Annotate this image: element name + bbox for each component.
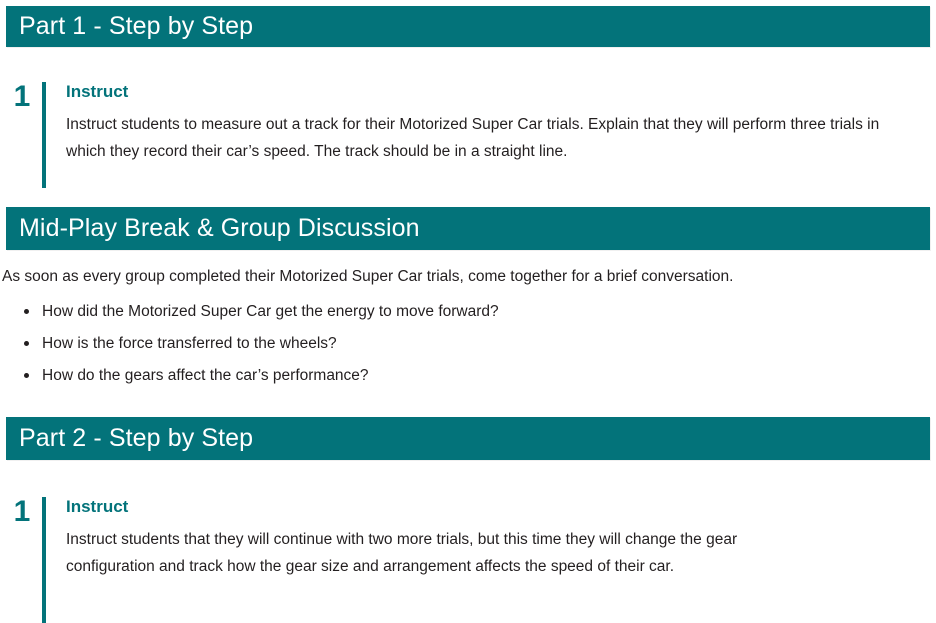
section-header-part1-title: Part 1 - Step by Step	[19, 14, 253, 39]
step-description: Instruct students to measure out a track…	[66, 111, 911, 165]
discussion-question-list: How did the Motorized Super Car get the …	[0, 302, 900, 398]
section-header-part2: Part 2 - Step by Step	[6, 417, 930, 460]
list-item: How did the Motorized Super Car get the …	[0, 302, 900, 322]
section-header-midplay: Mid-Play Break & Group Discussion	[6, 207, 930, 250]
bullet-dot-icon	[24, 309, 29, 314]
lesson-plan-page: Part 1 - Step by Step 1 Instruct Instruc…	[0, 0, 936, 623]
step-description: Instruct students that they will continu…	[66, 526, 818, 580]
discussion-question-text: How is the force transferred to the whee…	[42, 335, 337, 352]
step-body: Instruct Instruct students that they wil…	[66, 497, 826, 580]
step-title: Instruct	[66, 497, 826, 517]
section-header-midplay-title: Mid-Play Break & Group Discussion	[19, 216, 420, 241]
section-header-part1: Part 1 - Step by Step	[6, 6, 930, 47]
step-title: Instruct	[66, 82, 916, 102]
bullet-dot-icon	[24, 373, 29, 378]
midplay-intro-text: As soon as every group completed their M…	[2, 266, 902, 288]
list-item: How is the force transferred to the whee…	[0, 334, 900, 354]
list-item: How do the gears affect the car’s perfor…	[0, 366, 900, 386]
discussion-question-text: How did the Motorized Super Car get the …	[42, 303, 499, 320]
discussion-question-text: How do the gears affect the car’s perfor…	[42, 367, 369, 384]
step-number: 1	[8, 497, 36, 527]
step-body: Instruct Instruct students to measure ou…	[66, 82, 916, 165]
step-accent-rule	[42, 82, 46, 188]
step-accent-rule	[42, 497, 46, 623]
bullet-dot-icon	[24, 341, 29, 346]
step-number: 1	[8, 82, 36, 112]
section-header-part2-title: Part 2 - Step by Step	[19, 426, 253, 451]
